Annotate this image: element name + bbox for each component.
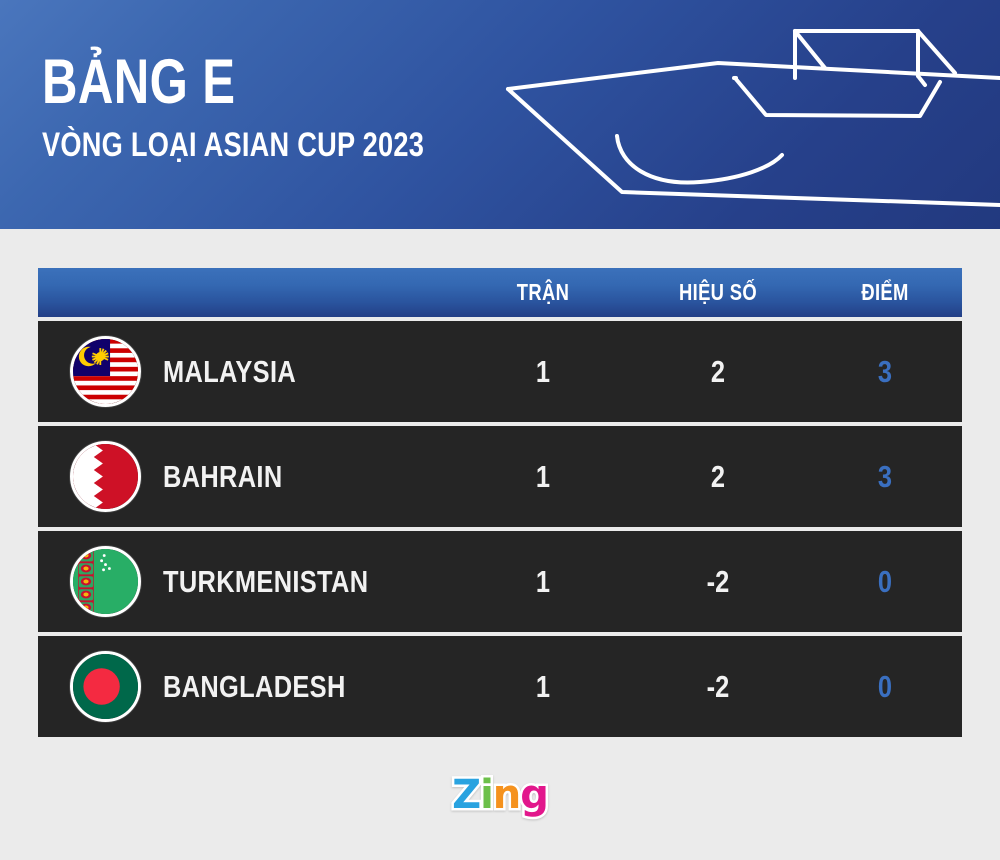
team-cell: BAHRAIN — [38, 441, 458, 512]
zing-logo-letter-i: i — [480, 775, 493, 815]
played-value: 1 — [473, 564, 612, 600]
team-cell: BANGLADESH — [38, 651, 458, 722]
team-cell: MALAYSIA — [38, 336, 458, 407]
team-cell: TURKMENISTAN — [38, 546, 458, 617]
goal-diff-value: -2 — [644, 564, 792, 600]
page-subtitle: VÒNG LOẠI ASIAN CUP 2023 — [42, 128, 424, 164]
team-name: BANGLADESH — [163, 669, 346, 705]
football-pitch-decoration-icon — [470, 0, 1000, 229]
zing-logo-letter-g: g — [520, 775, 548, 815]
goal-diff-value: 2 — [644, 354, 792, 390]
goal-diff-value: 2 — [644, 459, 792, 495]
table-header-row: TRẬN HIỆU SỐ ĐIỂM — [38, 268, 962, 317]
page-title: BẢNG E — [42, 52, 415, 114]
points-value: 0 — [822, 564, 948, 600]
table-row[interactable]: BANGLADESH 1 -2 0 — [38, 636, 962, 737]
zing-logo-letter-n: n — [493, 775, 520, 815]
played-value: 1 — [473, 669, 612, 705]
team-name: MALAYSIA — [163, 354, 296, 390]
column-header-goal-diff: HIỆU SỐ — [646, 279, 790, 306]
played-value: 1 — [473, 459, 612, 495]
table-row[interactable]: MALAYSIA 1 2 3 — [38, 321, 962, 422]
goal-diff-value: -2 — [644, 669, 792, 705]
table-row[interactable]: TURKMENISTAN 1 -2 0 — [38, 531, 962, 632]
footer: Zing — [0, 760, 1000, 830]
played-value: 1 — [473, 354, 612, 390]
team-name: BAHRAIN — [163, 459, 283, 495]
column-header-played: TRẬN — [475, 279, 611, 306]
bangladesh-flag-icon — [70, 651, 141, 722]
malaysia-flag-icon — [70, 336, 141, 407]
standings-table: TRẬN HIỆU SỐ ĐIỂM — [38, 268, 962, 737]
bahrain-flag-icon — [70, 441, 141, 512]
header-text-block: BẢNG E VÒNG LOẠI ASIAN CUP 2023 — [42, 52, 520, 163]
team-name: TURKMENISTAN — [163, 564, 368, 600]
turkmenistan-flag-icon — [70, 546, 141, 617]
points-value: 0 — [822, 669, 948, 705]
points-value: 3 — [822, 459, 948, 495]
table-row[interactable]: BAHRAIN 1 2 3 — [38, 426, 962, 527]
zing-logo[interactable]: Zing — [452, 775, 548, 815]
column-header-points: ĐIỂM — [823, 279, 946, 306]
points-value: 3 — [822, 354, 948, 390]
zing-logo-letter-z: Z — [452, 775, 480, 815]
page-header: BẢNG E VÒNG LOẠI ASIAN CUP 2023 — [0, 0, 1000, 229]
